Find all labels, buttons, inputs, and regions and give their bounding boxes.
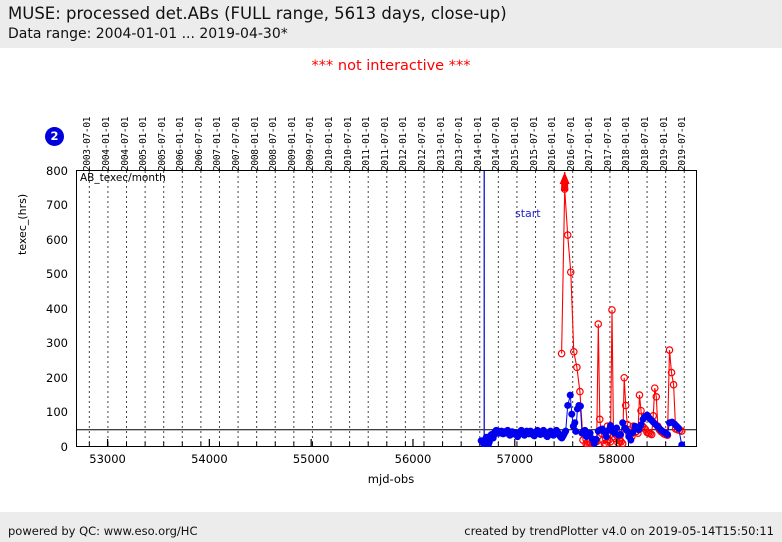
x-axis-date-label: 2005-07-01 (157, 117, 168, 171)
x-axis-date-label: 2009-07-01 (305, 117, 316, 171)
x-axis-date-label: 2015-01-01 (510, 117, 521, 171)
x-tick-label: 54000 (191, 452, 228, 466)
x-axis-date-label: 2019-01-01 (659, 117, 670, 171)
x-axis-date-label: 2011-01-01 (361, 117, 372, 171)
x-axis-date-label: 2007-01-01 (212, 117, 223, 171)
x-axis-date-label: 2019-07-01 (677, 117, 688, 171)
y-tick-label: 800 (26, 164, 68, 178)
x-axis-date-label: 2012-07-01 (417, 117, 428, 171)
x-axis-date-label: 2008-01-01 (250, 117, 261, 171)
y-tick-label: 600 (26, 233, 68, 247)
y-tick-label: 700 (26, 198, 68, 212)
y-tick-label: 0 (26, 440, 68, 454)
y-axis-tick-labels: 800 700 600 500 400 300 200 100 0 (26, 0, 68, 542)
footer-credit-left: powered by QC: www.eso.org/HC (8, 524, 197, 538)
x-tick-label: 55000 (293, 452, 330, 466)
x-axis-date-label: 2014-07-01 (491, 117, 502, 171)
x-axis-date-label: 2003-07-01 (82, 117, 93, 171)
y-tick-label: 200 (26, 371, 68, 385)
x-axis-date-label: 2006-07-01 (194, 117, 205, 171)
x-axis-date-label: 2017-01-01 (584, 117, 595, 171)
x-axis-date-label: 2014-01-01 (473, 117, 484, 171)
y-tick-label: 100 (26, 405, 68, 419)
x-axis-date-label: 2011-07-01 (380, 117, 391, 171)
x-axis-date-label: 2013-01-01 (436, 117, 447, 171)
not-interactive-notice: *** not interactive *** (0, 58, 782, 74)
x-axis-date-label: 2009-01-01 (287, 117, 298, 171)
y-tick-label: 300 (26, 336, 68, 350)
plot-svg (76, 170, 697, 447)
series-inner-label: AB_texec/month (80, 172, 166, 184)
x-axis-date-label: 2007-07-01 (231, 117, 242, 171)
start-marker-label: start (515, 207, 541, 220)
x-axis-date-label: 2013-07-01 (454, 117, 465, 171)
x-axis-date-label: 2008-07-01 (268, 117, 279, 171)
x-axis-date-label: 2012-01-01 (398, 117, 409, 171)
x-axis-date-label: 2018-01-01 (621, 117, 632, 171)
x-axis-date-label: 2017-07-01 (603, 117, 614, 171)
plot-canvas (76, 170, 697, 447)
footer-credit-right: created by trendPlotter v4.0 on 2019-05-… (464, 524, 774, 538)
x-axis-date-label: 2016-07-01 (566, 117, 577, 171)
x-tick-label: 58000 (598, 452, 635, 466)
x-tick-label: 57000 (496, 452, 533, 466)
x-axis-date-label: 2005-01-01 (138, 117, 149, 171)
x-axis-date-label: 2010-07-01 (343, 117, 354, 171)
x-axis-date-label: 2015-07-01 (529, 117, 540, 171)
x-axis-date-label: 2010-01-01 (324, 117, 335, 171)
y-tick-label: 500 (26, 267, 68, 281)
x-tick-label: 53000 (89, 452, 126, 466)
x-axis-date-label: 2016-01-01 (547, 117, 558, 171)
y-tick-label: 400 (26, 302, 68, 316)
x-tick-label: 56000 (395, 452, 432, 466)
x-axis-title: mjd-obs (0, 472, 782, 486)
page-title: MUSE: processed det.ABs (FULL range, 561… (8, 4, 507, 23)
x-axis-date-label: 2004-07-01 (120, 117, 131, 171)
x-axis-date-label: 2004-01-01 (101, 117, 112, 171)
x-axis-date-label: 2018-07-01 (640, 117, 651, 171)
x-axis-date-label: 2006-01-01 (175, 117, 186, 171)
